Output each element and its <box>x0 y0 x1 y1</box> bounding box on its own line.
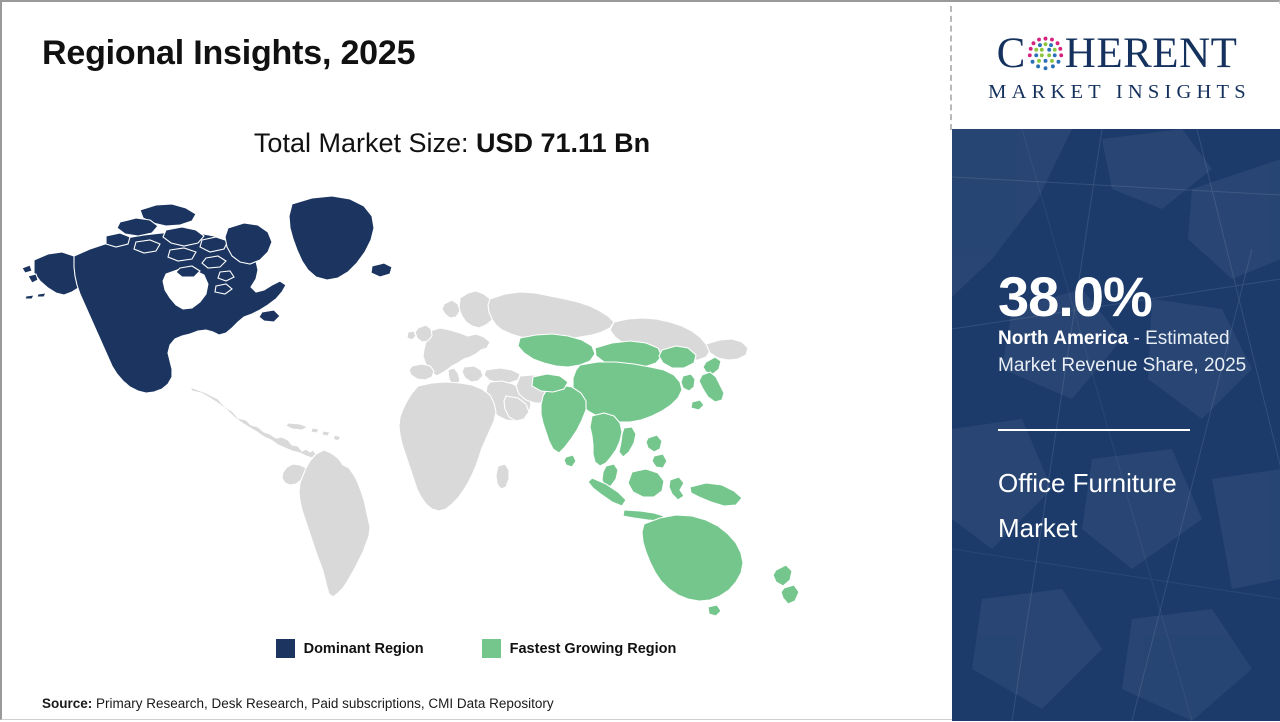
market-size-label: Total Market Size: <box>254 128 476 158</box>
map-dominant-regions <box>22 196 392 393</box>
logo-tagline: MARKET INSIGHTS <box>983 81 1251 104</box>
source-label: Source: <box>42 696 92 711</box>
map-legend: Dominant Region Fastest Growing Region <box>2 639 950 658</box>
percentage-value: 38.0% <box>998 269 1152 325</box>
logo-wordmark: C <box>997 29 1238 77</box>
legend-item-dominant: Dominant Region <box>276 639 424 658</box>
green-swatch-icon <box>482 639 501 658</box>
navy-swatch-icon <box>276 639 295 658</box>
map-fastest-growing-regions <box>518 334 799 616</box>
left-content-area: Regional Insights, 2025 Total Market Siz… <box>2 2 950 722</box>
company-logo: C <box>952 4 1280 129</box>
stats-panel: 38.0% North America - Estimated Market R… <box>952 129 1280 721</box>
legend-item-growth: Fastest Growing Region <box>482 639 677 658</box>
market-size-value: USD 71.11 Bn <box>476 128 650 158</box>
market-size-line: Total Market Size: USD 71.11 Bn <box>2 128 902 159</box>
logo-letter-c: C <box>997 32 1026 75</box>
infographic-root: Regional Insights, 2025 Total Market Siz… <box>0 0 1280 720</box>
dotted-globe-icon <box>1027 34 1064 71</box>
region-name: North America <box>998 328 1128 349</box>
legend-label-dominant: Dominant Region <box>304 641 424 657</box>
logo-letters-herent: HERENT <box>1065 32 1238 75</box>
panel-divider-rule <box>998 429 1190 431</box>
panel-texture <box>952 129 1280 721</box>
market-name: Office Furniture Market <box>998 461 1248 550</box>
source-text: Primary Research, Desk Research, Paid su… <box>92 696 553 711</box>
source-footer: Source: Primary Research, Desk Research,… <box>42 696 554 711</box>
region-share-description: North America - Estimated Market Revenue… <box>998 326 1266 380</box>
world-map <box>20 180 932 620</box>
legend-label-growth: Fastest Growing Region <box>510 641 677 657</box>
page-title: Regional Insights, 2025 <box>42 34 415 73</box>
